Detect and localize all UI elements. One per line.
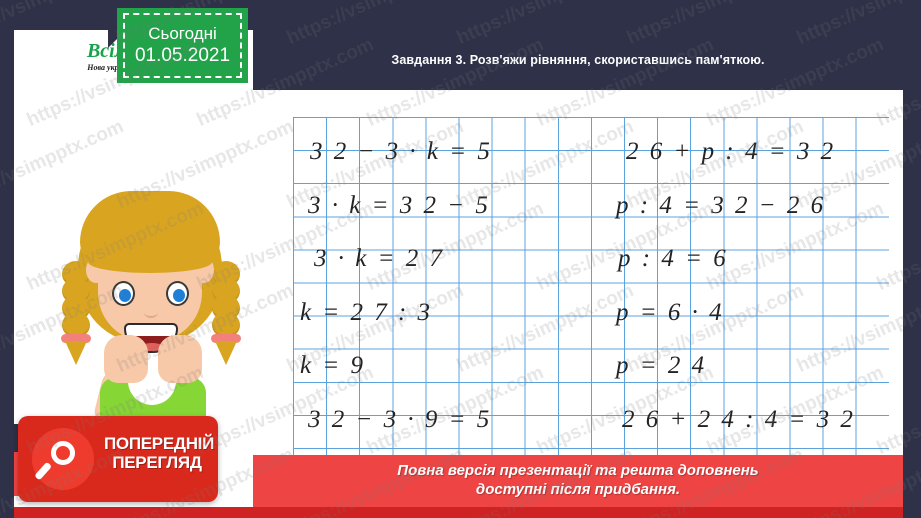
date-badge-value: 01.05.2021 [135, 44, 230, 68]
equation-line: 2 6 + p : 4 = 3 2 [610, 139, 916, 164]
equation-line: k = 9 [300, 353, 590, 378]
equation-line: p : 4 = 3 2 − 2 6 [610, 193, 906, 218]
date-badge: Сьогодні 01.05.2021 [117, 8, 248, 83]
equation-line: 2 6 + 2 4 : 4 = 3 2 [610, 407, 912, 432]
equation-line: p = 2 4 [610, 353, 906, 378]
preview-badge[interactable]: ПОПЕРЕДНІЙ ПЕРЕГЛЯД [18, 416, 218, 502]
hand-left [104, 335, 148, 383]
hair-fringe [80, 191, 220, 263]
banner-line-2: доступні після придбання. [476, 481, 680, 500]
girl-illustration [40, 185, 260, 420]
preview-badge-text: ПОПЕРЕДНІЙ ПЕРЕГЛЯД [104, 434, 210, 472]
equation-line: p = 6 · 4 [610, 300, 906, 325]
braid-left [62, 270, 90, 365]
equation-line: p : 4 = 6 [610, 246, 908, 271]
equation-line: 3 · k = 3 2 − 5 [300, 193, 598, 218]
header-bar: Завдання 3. Розв'яжи рівняння, скористав… [253, 30, 903, 90]
equation-line: 3 2 − 3 · k = 5 [300, 139, 600, 164]
page-title: Завдання 3. Розв'яжи рівняння, скористав… [391, 53, 764, 67]
eye-right [166, 281, 189, 306]
equation-column-right: 2 6 + p : 4 = 3 2p : 4 = 3 2 − 2 6p : 4 … [610, 117, 900, 501]
magnifier-glass-icon [51, 441, 75, 465]
nose [144, 307, 158, 318]
magnifier-icon [32, 428, 94, 490]
equation-line: k = 2 7 : 3 [300, 300, 590, 325]
braid-right [212, 270, 240, 365]
equation-column-left: 3 2 − 3 · k = 53 · k = 3 2 − 53 · k = 2 … [300, 117, 590, 501]
hand-right [158, 335, 202, 383]
purchase-banner: Повна версія презентації та решта доповн… [253, 455, 903, 507]
banner-bottom-strip [14, 507, 903, 518]
preview-label-line-2: ПЕРЕГЛЯД [104, 453, 210, 472]
equation-line: 3 2 − 3 · 9 = 5 [300, 407, 598, 432]
date-badge-label: Сьогодні [148, 23, 217, 44]
slide-left-frame [0, 0, 14, 518]
preview-label-line-1: ПОПЕРЕДНІЙ [104, 434, 210, 453]
equation-line: 3 · k = 2 7 [300, 246, 604, 271]
magnifier-handle-icon [34, 462, 52, 481]
banner-line-1: Повна версія презентації та решта доповн… [397, 462, 758, 481]
eye-left [112, 281, 135, 306]
slide-canvas: Завдання 3. Розв'яжи рівняння, скористав… [0, 0, 921, 518]
